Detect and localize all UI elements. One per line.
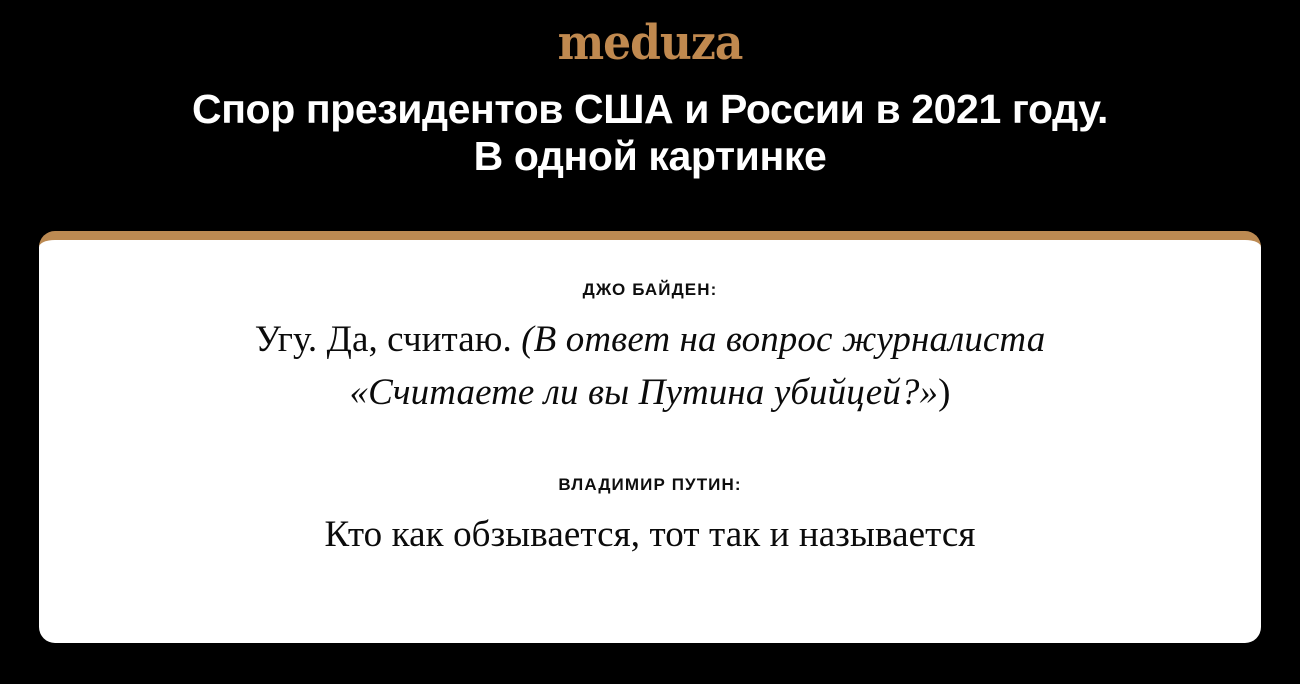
quote-biden-closing-paren: ) — [938, 372, 950, 413]
page-title: Спор президентов США и России в 2021 год… — [50, 86, 1250, 180]
meduza-logo[interactable]: meduza — [558, 20, 743, 68]
speaker-label-biden: ДЖО БАЙДЕН: — [97, 280, 1203, 300]
quote-text-biden: Угу. Да, считаю. (В ответ на вопрос журн… — [97, 313, 1203, 419]
page-title-line-1: Спор президентов США и России в 2021 год… — [50, 86, 1250, 133]
quote-biden-roman-part: Угу. Да, считаю. — [255, 319, 512, 360]
quote-biden-italic-part-1: (В ответ на вопрос журналиста — [521, 319, 1045, 360]
quote-putin-line-1: Кто как обзывается, тот так и называется — [97, 508, 1203, 561]
speaker-label-putin: ВЛАДИМИР ПУТИН: — [97, 475, 1203, 495]
quote-biden-line-2: «Считаете ли вы Путина убийцей?») — [97, 366, 1203, 419]
quote-card: ДЖО БАЙДЕН: Угу. Да, считаю. (В ответ на… — [39, 231, 1261, 643]
quote-card-body: ДЖО БАЙДЕН: Угу. Да, считаю. (В ответ на… — [39, 240, 1261, 561]
quote-biden-italic-part-2: «Считаете ли вы Путина убийцей?» — [349, 372, 938, 413]
masthead: meduza — [0, 22, 1300, 66]
page-title-line-2: В одной картинке — [50, 133, 1250, 180]
quote-biden-line-1: Угу. Да, считаю. (В ответ на вопрос журн… — [97, 313, 1203, 366]
poster-canvas: meduza Спор президентов США и России в 2… — [0, 0, 1300, 684]
quote-text-putin: Кто как обзывается, тот так и называется — [97, 508, 1203, 561]
